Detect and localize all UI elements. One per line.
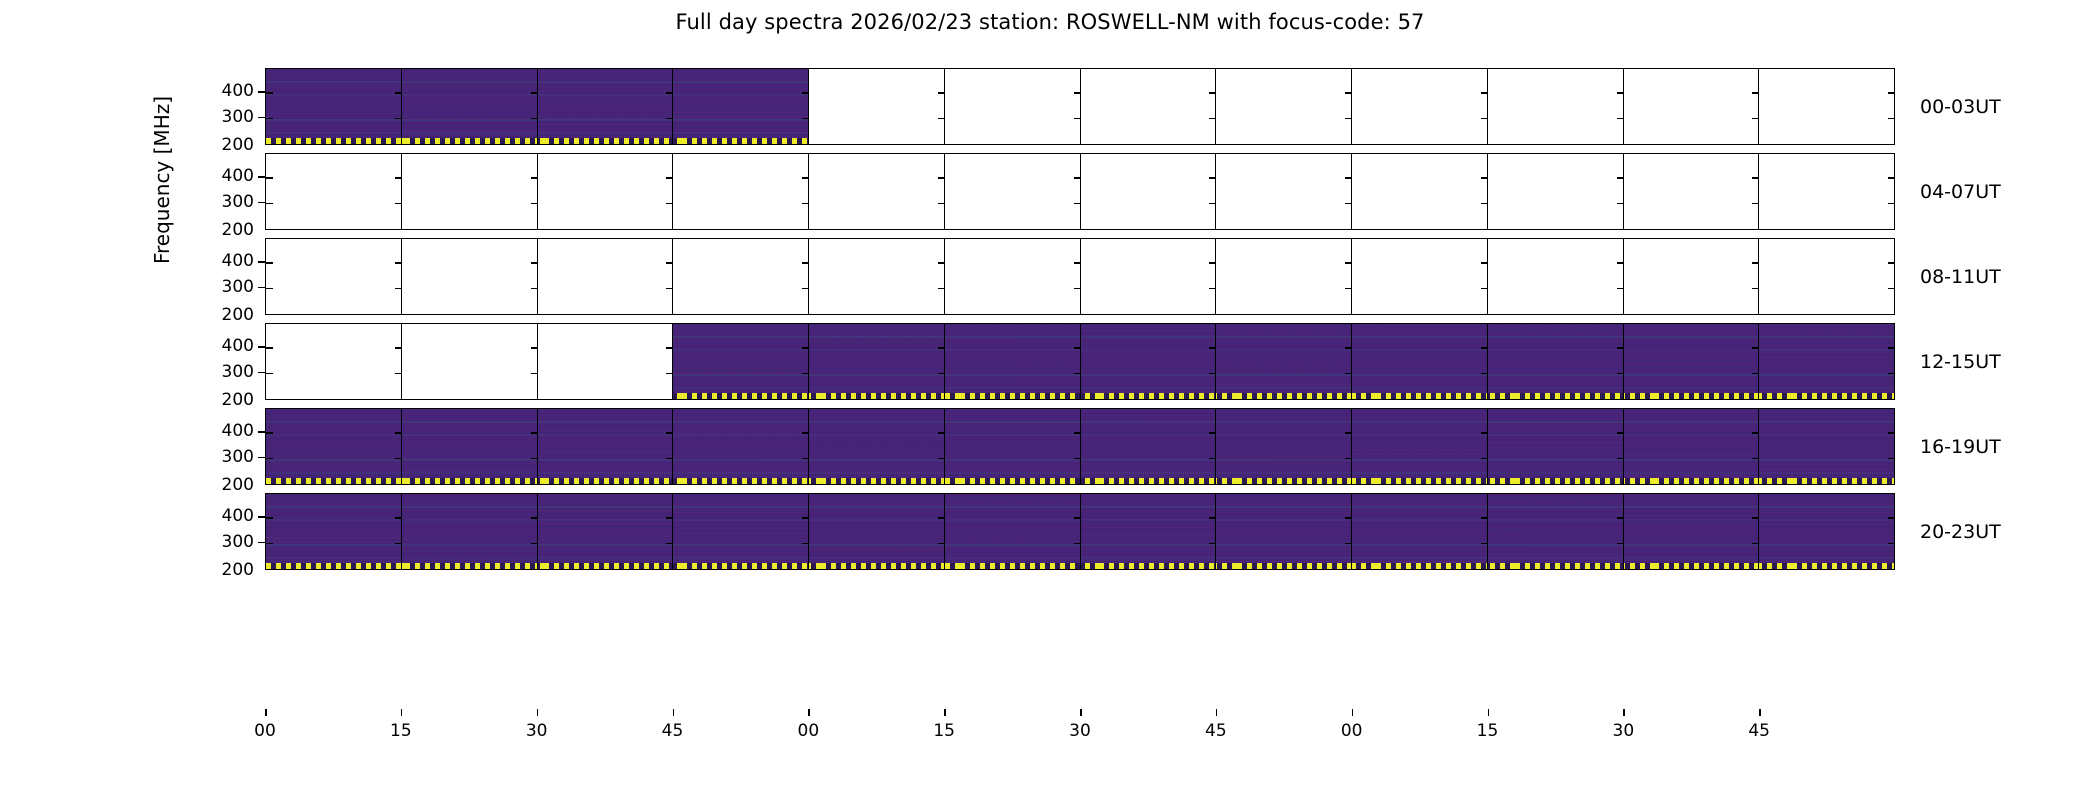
frequency-marker-band xyxy=(809,563,944,569)
axis-tick xyxy=(1074,432,1081,434)
axis-tick xyxy=(1752,262,1759,264)
x-tick-label: 00 xyxy=(783,723,833,740)
spectrogram-image xyxy=(1759,494,1894,563)
frequency-marker-band xyxy=(1352,563,1487,569)
axis-tick xyxy=(1074,203,1081,205)
subpanel[interactable] xyxy=(1081,409,1217,484)
axis-tick xyxy=(266,177,273,179)
subpanel[interactable] xyxy=(538,324,674,399)
y-tick-label: 200 xyxy=(196,222,254,239)
subpanel[interactable] xyxy=(538,154,674,229)
axis-tick xyxy=(1752,432,1759,434)
frequency-marker-band xyxy=(1081,563,1216,569)
axis-tick xyxy=(666,347,673,349)
axis-tick xyxy=(531,262,538,264)
axis-tick xyxy=(1752,92,1759,94)
subpanel[interactable] xyxy=(1624,409,1760,484)
axis-tick xyxy=(938,288,945,290)
frequency-marker-band xyxy=(538,563,673,569)
axis-tick xyxy=(1888,432,1894,434)
spectrogram-image xyxy=(266,69,401,138)
spectrogram-image xyxy=(538,69,673,138)
subpanel[interactable] xyxy=(1624,154,1760,229)
axis-tick xyxy=(1209,262,1216,264)
subpanel[interactable] xyxy=(402,409,538,484)
axis-tick xyxy=(666,373,673,375)
axis-tick xyxy=(938,347,945,349)
axis-tick xyxy=(1209,118,1216,120)
subpanel[interactable] xyxy=(945,324,1081,399)
subpanel[interactable] xyxy=(1081,239,1217,314)
spectrogram-image xyxy=(1081,324,1216,393)
axis-tick xyxy=(266,458,273,460)
y-tick-mark xyxy=(258,91,265,93)
y-tick-mark xyxy=(258,176,265,178)
axis-tick xyxy=(802,177,809,179)
subpanel[interactable] xyxy=(1624,494,1760,569)
axis-tick xyxy=(1345,458,1352,460)
subpanel[interactable] xyxy=(1216,154,1352,229)
y-tick-label: 200 xyxy=(196,307,254,324)
subpanel[interactable] xyxy=(945,69,1081,144)
frequency-marker-band xyxy=(266,563,401,569)
x-tick-mark xyxy=(808,709,810,716)
spectrogram-image xyxy=(538,409,673,478)
axis-tick xyxy=(802,118,809,120)
spectrogram-image xyxy=(809,494,944,563)
axis-tick xyxy=(1888,288,1894,290)
axis-tick xyxy=(666,177,673,179)
spectrogram-row-16-19ut xyxy=(265,408,1895,485)
subpanel[interactable] xyxy=(1352,239,1488,314)
y-tick-mark xyxy=(258,261,265,263)
subpanel[interactable] xyxy=(402,494,538,569)
frequency-marker-band xyxy=(402,563,537,569)
axis-tick xyxy=(266,92,273,94)
axis-tick xyxy=(802,458,809,460)
x-tick-label: 00 xyxy=(240,723,290,740)
y-tick-label: 400 xyxy=(196,508,254,525)
subpanel[interactable] xyxy=(402,239,538,314)
axis-tick xyxy=(666,92,673,94)
axis-tick xyxy=(531,432,538,434)
frequency-marker-band xyxy=(673,563,808,569)
x-tick-label: 30 xyxy=(1055,723,1105,740)
axis-tick xyxy=(531,373,538,375)
subpanel[interactable] xyxy=(945,154,1081,229)
subpanel[interactable] xyxy=(1352,69,1488,144)
axis-tick xyxy=(1209,373,1216,375)
spectrogram-image xyxy=(538,494,673,563)
subpanel[interactable] xyxy=(1759,69,1894,144)
subpanel[interactable] xyxy=(402,69,538,144)
axis-tick xyxy=(1481,517,1488,519)
axis-tick xyxy=(938,262,945,264)
frequency-marker-band xyxy=(945,563,1080,569)
axis-tick xyxy=(395,517,402,519)
axis-tick xyxy=(938,177,945,179)
axis-tick xyxy=(1209,517,1216,519)
frequency-marker-band xyxy=(1081,393,1216,399)
axis-tick xyxy=(1209,92,1216,94)
y-tick-label: 200 xyxy=(196,137,254,154)
subpanel[interactable] xyxy=(673,69,809,144)
axis-tick xyxy=(1617,92,1624,94)
axis-tick xyxy=(1888,203,1894,205)
spectrogram-row-20-23ut xyxy=(265,493,1895,570)
x-tick-label: 15 xyxy=(1463,723,1513,740)
axis-tick xyxy=(1345,177,1352,179)
axis-tick xyxy=(666,432,673,434)
subpanel[interactable] xyxy=(1488,239,1624,314)
axis-tick xyxy=(531,92,538,94)
spectrogram-image xyxy=(1081,494,1216,563)
axis-tick xyxy=(802,92,809,94)
subpanel[interactable] xyxy=(266,324,402,399)
subpanel[interactable] xyxy=(1216,494,1352,569)
axis-tick xyxy=(1752,288,1759,290)
axis-tick xyxy=(395,543,402,545)
axis-tick xyxy=(1209,458,1216,460)
frequency-marker-band xyxy=(1488,563,1623,569)
axis-tick xyxy=(1074,543,1081,545)
row-label-00-03ut: 00-03UT xyxy=(1920,98,2001,117)
subpanel[interactable] xyxy=(538,409,674,484)
axis-tick xyxy=(1074,458,1081,460)
axis-tick xyxy=(395,373,402,375)
axis-tick xyxy=(1209,288,1216,290)
x-tick-label: 45 xyxy=(1734,723,1784,740)
y-tick-label: 300 xyxy=(196,194,254,211)
axis-tick xyxy=(666,543,673,545)
axis-tick xyxy=(1481,203,1488,205)
subpanel[interactable] xyxy=(809,154,945,229)
subpanel[interactable] xyxy=(1352,154,1488,229)
axis-tick xyxy=(1888,517,1894,519)
subpanel[interactable] xyxy=(1759,239,1894,314)
spectrogram-image xyxy=(1488,494,1623,563)
subpanel[interactable] xyxy=(538,239,674,314)
spectrogram-image xyxy=(809,409,944,478)
axis-tick xyxy=(1481,543,1488,545)
spectrogram-image xyxy=(1488,324,1623,393)
axis-tick xyxy=(802,432,809,434)
axis-tick xyxy=(1617,177,1624,179)
axis-tick xyxy=(1617,203,1624,205)
spectrogram-image xyxy=(809,324,944,393)
spectrogram-image xyxy=(673,324,808,393)
axis-tick xyxy=(266,288,273,290)
axis-tick xyxy=(1752,373,1759,375)
axis-tick xyxy=(1074,262,1081,264)
axis-tick xyxy=(1617,262,1624,264)
axis-tick xyxy=(395,92,402,94)
axis-tick xyxy=(1888,92,1894,94)
y-tick-label: 400 xyxy=(196,423,254,440)
y-tick-mark xyxy=(258,431,265,433)
x-tick-label: 45 xyxy=(648,723,698,740)
axis-tick xyxy=(1074,118,1081,120)
spectrogram-image xyxy=(266,494,401,563)
axis-tick xyxy=(1752,543,1759,545)
axis-tick xyxy=(531,288,538,290)
subpanel[interactable] xyxy=(402,324,538,399)
x-tick-label: 30 xyxy=(1598,723,1648,740)
axis-tick xyxy=(938,543,945,545)
subpanel[interactable] xyxy=(1352,494,1488,569)
frequency-marker-band xyxy=(538,478,673,484)
row-label-16-19ut: 16-19UT xyxy=(1920,438,2001,457)
page-title: Full day spectra 2026/02/23 station: ROS… xyxy=(0,9,2100,35)
axis-tick xyxy=(531,347,538,349)
x-tick-mark xyxy=(1216,709,1218,716)
x-tick-label: 45 xyxy=(1191,723,1241,740)
subpanel[interactable] xyxy=(809,239,945,314)
subpanel[interactable] xyxy=(945,409,1081,484)
spectrogram-image xyxy=(673,494,808,563)
subpanel[interactable] xyxy=(1624,324,1760,399)
subpanel[interactable] xyxy=(673,239,809,314)
row-label-04-07ut: 04-07UT xyxy=(1920,183,2001,202)
axis-tick xyxy=(666,118,673,120)
subpanel[interactable] xyxy=(1216,69,1352,144)
subpanel[interactable] xyxy=(809,409,945,484)
axis-tick xyxy=(1617,543,1624,545)
y-tick-label: 400 xyxy=(196,338,254,355)
axis-tick xyxy=(1209,543,1216,545)
subpanel[interactable] xyxy=(1081,154,1217,229)
row-label-20-23ut: 20-23UT xyxy=(1920,523,2001,542)
axis-tick xyxy=(1074,347,1081,349)
subpanel[interactable] xyxy=(1488,494,1624,569)
frequency-marker-band xyxy=(809,478,944,484)
y-tick-mark xyxy=(258,372,265,374)
axis-tick xyxy=(1617,347,1624,349)
axis-tick xyxy=(1752,177,1759,179)
spectrogram-image xyxy=(945,324,1080,393)
axis-tick xyxy=(1345,373,1352,375)
subpanel[interactable] xyxy=(1488,324,1624,399)
spectrogram-image xyxy=(673,409,808,478)
spectrogram-image xyxy=(1624,494,1759,563)
x-tick-label: 00 xyxy=(1327,723,1377,740)
axis-tick xyxy=(1752,347,1759,349)
axis-tick xyxy=(395,347,402,349)
subpanel[interactable] xyxy=(673,409,809,484)
axis-tick xyxy=(1481,373,1488,375)
axis-tick xyxy=(802,543,809,545)
subpanel[interactable] xyxy=(673,494,809,569)
axis-tick xyxy=(266,517,273,519)
axis-tick xyxy=(938,432,945,434)
subpanel[interactable] xyxy=(266,494,402,569)
x-tick-label: 30 xyxy=(512,723,562,740)
frequency-marker-band xyxy=(538,138,673,144)
axis-tick xyxy=(1209,203,1216,205)
axis-tick xyxy=(1752,118,1759,120)
spectrogram-image xyxy=(945,409,1080,478)
spectrogram-image xyxy=(1216,324,1351,393)
frequency-marker-band xyxy=(1352,393,1487,399)
spectrogram-row-04-07ut xyxy=(265,153,1895,230)
axis-tick xyxy=(1752,517,1759,519)
axis-tick xyxy=(1617,517,1624,519)
subpanel[interactable] xyxy=(1081,324,1217,399)
axis-tick xyxy=(1345,118,1352,120)
subpanel[interactable] xyxy=(945,494,1081,569)
subpanel[interactable] xyxy=(1624,69,1760,144)
axis-tick xyxy=(1345,517,1352,519)
axis-tick xyxy=(395,118,402,120)
x-tick-mark xyxy=(537,709,539,716)
spectrogram-image xyxy=(402,494,537,563)
axis-tick xyxy=(1617,458,1624,460)
x-tick-mark xyxy=(265,709,267,716)
axis-tick xyxy=(938,118,945,120)
axis-tick xyxy=(1074,517,1081,519)
spectrogram-image xyxy=(402,69,537,138)
subpanel[interactable] xyxy=(1488,154,1624,229)
frequency-marker-band xyxy=(1624,563,1759,569)
x-tick-mark xyxy=(944,709,946,716)
axis-tick xyxy=(938,203,945,205)
subpanel[interactable] xyxy=(673,154,809,229)
subpanel[interactable] xyxy=(266,69,402,144)
subpanel[interactable] xyxy=(266,409,402,484)
subpanel[interactable] xyxy=(1216,409,1352,484)
spectrogram-row-00-03ut xyxy=(265,68,1895,145)
frequency-marker-band xyxy=(1488,393,1623,399)
x-tick-label: 15 xyxy=(919,723,969,740)
subpanel[interactable] xyxy=(1488,409,1624,484)
frequency-marker-band xyxy=(1759,478,1894,484)
subpanel[interactable] xyxy=(538,69,674,144)
axis-tick xyxy=(1345,262,1352,264)
axis-tick xyxy=(802,262,809,264)
subpanel[interactable] xyxy=(1216,324,1352,399)
subpanel[interactable] xyxy=(1081,69,1217,144)
frequency-marker-band xyxy=(1352,478,1487,484)
y-tick-mark xyxy=(258,542,265,544)
row-label-12-15ut: 12-15UT xyxy=(1920,353,2001,372)
subpanel[interactable] xyxy=(1759,324,1894,399)
frequency-marker-band xyxy=(1759,563,1894,569)
axis-tick xyxy=(802,373,809,375)
spectrogram-image xyxy=(1352,324,1487,393)
y-tick-label: 300 xyxy=(196,109,254,126)
axis-tick xyxy=(1209,177,1216,179)
axis-tick xyxy=(666,458,673,460)
axis-tick xyxy=(1481,288,1488,290)
subpanel[interactable] xyxy=(1624,239,1760,314)
y-tick-label: 200 xyxy=(196,477,254,494)
x-tick-label: 15 xyxy=(376,723,426,740)
axis-tick xyxy=(395,458,402,460)
subpanel[interactable] xyxy=(809,494,945,569)
y-tick-label: 300 xyxy=(196,534,254,551)
subpanel-group xyxy=(266,494,1894,569)
subpanel[interactable] xyxy=(673,324,809,399)
frequency-marker-band xyxy=(1216,393,1351,399)
subpanel-group xyxy=(266,69,1894,144)
subpanel[interactable] xyxy=(1759,154,1894,229)
axis-tick xyxy=(938,517,945,519)
y-tick-mark xyxy=(258,516,265,518)
frequency-marker-band xyxy=(1081,478,1216,484)
subpanel[interactable] xyxy=(1216,239,1352,314)
axis-tick xyxy=(1074,177,1081,179)
subpanel[interactable] xyxy=(809,324,945,399)
axis-tick xyxy=(531,543,538,545)
axis-tick xyxy=(1345,347,1352,349)
y-tick-label: 200 xyxy=(196,562,254,579)
subpanel[interactable] xyxy=(1488,69,1624,144)
x-tick-mark xyxy=(1488,709,1490,716)
frequency-marker-band xyxy=(402,478,537,484)
axis-tick xyxy=(1888,458,1894,460)
subpanel-group xyxy=(266,239,1894,314)
axis-tick xyxy=(1481,458,1488,460)
axis-tick xyxy=(1888,543,1894,545)
subpanel[interactable] xyxy=(1759,494,1894,569)
axis-tick xyxy=(1345,543,1352,545)
axis-tick xyxy=(1888,262,1894,264)
spectrogram-row-12-15ut xyxy=(265,323,1895,400)
frequency-marker-band xyxy=(1488,478,1623,484)
axis-tick xyxy=(1345,432,1352,434)
spectrogram-image xyxy=(1352,409,1487,478)
spectrogram-image xyxy=(1624,409,1759,478)
spectrogram-image xyxy=(1759,409,1894,478)
subpanel[interactable] xyxy=(402,154,538,229)
subpanel[interactable] xyxy=(266,154,402,229)
spectrogram-figure: Full day spectra 2026/02/23 station: ROS… xyxy=(0,0,2100,800)
axis-tick xyxy=(1481,432,1488,434)
axis-tick xyxy=(531,118,538,120)
spectrogram-image xyxy=(673,69,808,138)
subpanel[interactable] xyxy=(538,494,674,569)
frequency-marker-band xyxy=(945,478,1080,484)
frequency-marker-band xyxy=(945,393,1080,399)
frequency-marker-band xyxy=(809,393,944,399)
spectrogram-image xyxy=(1488,409,1623,478)
axis-tick xyxy=(802,517,809,519)
spectrogram-image xyxy=(1352,494,1487,563)
y-tick-mark xyxy=(258,457,265,459)
axis-tick xyxy=(1888,347,1894,349)
frequency-marker-band xyxy=(673,138,808,144)
axis-tick xyxy=(1752,203,1759,205)
subpanel[interactable] xyxy=(1352,409,1488,484)
axis-tick xyxy=(395,203,402,205)
subpanel[interactable] xyxy=(945,239,1081,314)
y-tick-label: 300 xyxy=(196,449,254,466)
x-tick-mark xyxy=(1759,709,1761,716)
frequency-marker-band xyxy=(266,138,401,144)
y-tick-mark xyxy=(258,117,265,119)
axis-tick xyxy=(395,288,402,290)
subpanel[interactable] xyxy=(1352,324,1488,399)
frequency-marker-band xyxy=(266,478,401,484)
axis-tick xyxy=(1345,203,1352,205)
subpanel[interactable] xyxy=(809,69,945,144)
x-tick-mark xyxy=(401,709,403,716)
axis-tick xyxy=(266,432,273,434)
subpanel[interactable] xyxy=(1759,409,1894,484)
subpanel[interactable] xyxy=(266,239,402,314)
axis-tick xyxy=(1617,118,1624,120)
subpanel[interactable] xyxy=(1081,494,1217,569)
